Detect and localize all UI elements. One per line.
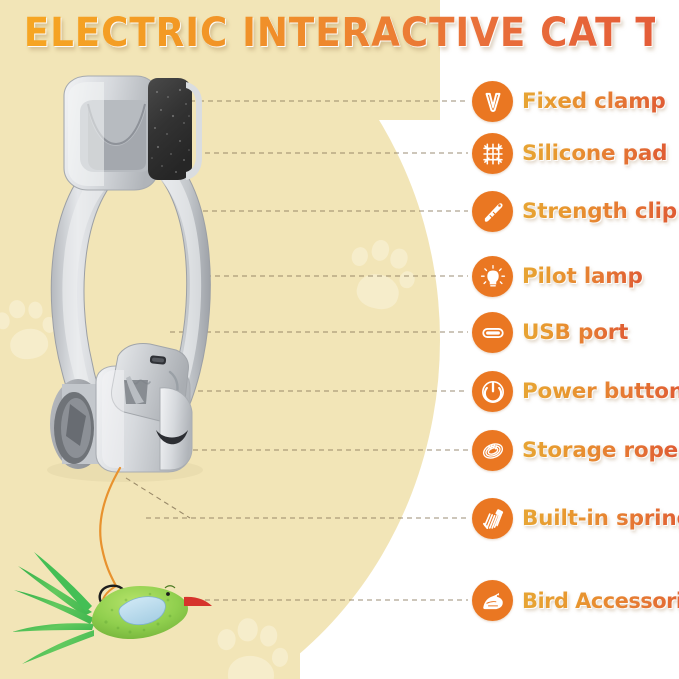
callout-strength-clip[interactable]: Strength clip [472,191,677,232]
clip-icon [472,191,513,232]
callout-label-text: Strength clip [522,199,677,224]
callout-storage-rope[interactable]: Storage rope [472,430,678,471]
callout-label-text: Silicone pad [522,141,667,166]
callout-built-in-spring[interactable]: Built-in spring [472,498,679,539]
callout-label-text: Bird Accessories [522,589,679,613]
bird-icon [472,580,513,621]
clamp-icon [472,81,513,122]
infographic-canvas: ELECTRIC INTERACTIVE CAT TOY Fixed clamp… [0,0,679,679]
callout-label-text: USB port [522,320,628,345]
callout-bird-accessories[interactable]: Bird Accessories [472,580,679,621]
callout-pilot-lamp[interactable]: Pilot lamp [472,256,643,297]
callout-power-button[interactable]: Power button [472,371,679,412]
power-icon [472,371,513,412]
usb-port-icon [472,312,513,353]
silicone-pad-icon [472,133,513,174]
callout-fixed-clamp[interactable]: Fixed clamp [472,81,666,122]
callout-usb-port[interactable]: USB port [472,312,628,353]
callout-label-text: Fixed clamp [522,89,666,114]
page-title: ELECTRIC INTERACTIVE CAT TOY [24,10,655,56]
callout-label-text: Power button [522,379,679,404]
callout-silicone-pad[interactable]: Silicone pad [472,133,667,174]
rope-coil-icon [472,430,513,471]
callout-label-text: Storage rope [522,438,678,463]
spring-icon [472,498,513,539]
lightbulb-icon [472,256,513,297]
callout-label-text: Built-in spring [522,506,679,531]
callout-label-text: Pilot lamp [522,264,643,289]
